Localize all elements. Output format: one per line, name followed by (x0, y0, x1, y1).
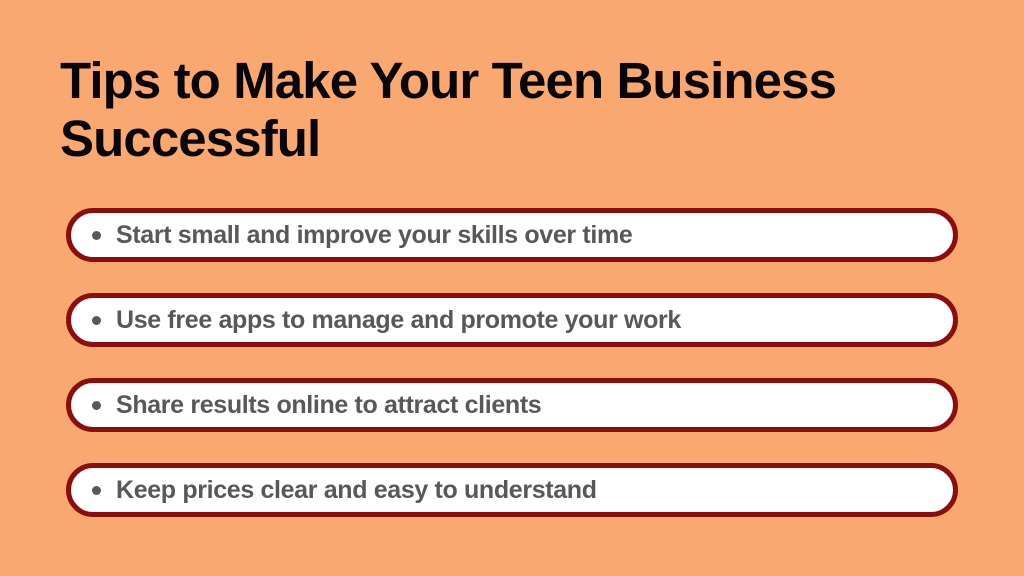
list-item-label: Share results online to attract clients (116, 391, 953, 419)
bullet-dot-icon (92, 316, 101, 325)
bullet-dot-icon (92, 486, 101, 495)
list-item-label: Keep prices clear and easy to understand (116, 476, 953, 504)
list-item[interactable]: Share results online to attract clients (66, 378, 958, 432)
list-item[interactable]: Keep prices clear and easy to understand (66, 463, 958, 517)
slide-canvas: Tips to Make Your Teen Business Successf… (0, 0, 1024, 576)
list-item[interactable]: Use free apps to manage and promote your… (66, 293, 958, 347)
list-item-label: Start small and improve your skills over… (116, 221, 953, 249)
list-item-label: Use free apps to manage and promote your… (116, 306, 953, 334)
list-item[interactable]: Start small and improve your skills over… (66, 208, 958, 262)
bullet-dot-icon (92, 401, 101, 410)
bullet-dot-icon (92, 231, 101, 240)
tips-list: Start small and improve your skills over… (66, 208, 958, 517)
page-title: Tips to Make Your Teen Business Successf… (60, 52, 980, 168)
title-block: Tips to Make Your Teen Business Successf… (60, 52, 980, 168)
